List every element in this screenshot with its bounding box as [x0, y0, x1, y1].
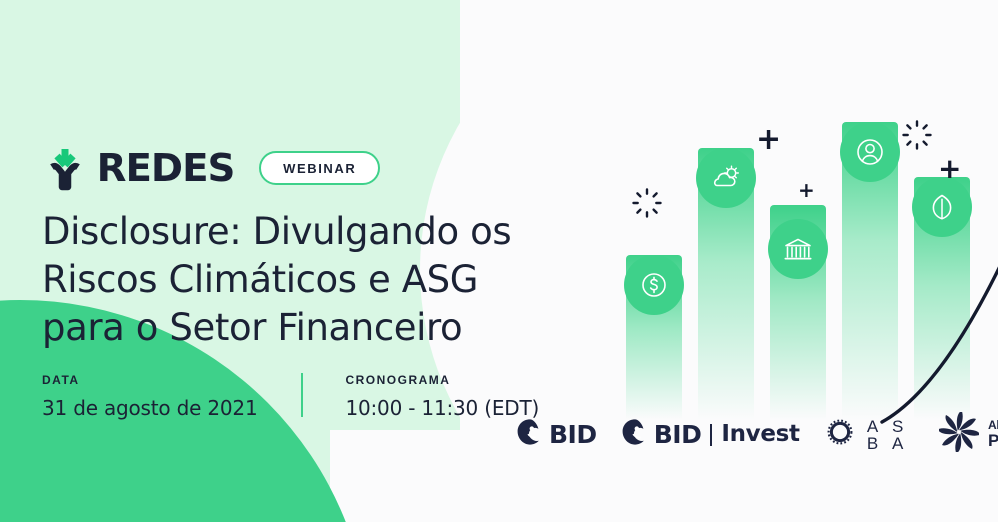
- plus-icon-right: +: [938, 155, 961, 183]
- date-value: 31 de agosto de 2021: [42, 396, 257, 420]
- cloud-sun-icon: [709, 161, 743, 195]
- partner-alianza-pacifico: Alianza del Pacífico: [939, 412, 998, 457]
- invest-label: Invest: [721, 423, 799, 446]
- bid-invest-label: BID: [654, 422, 702, 447]
- time-block: CRONOGRAMA 10:00 - 11:30 (EDT): [345, 373, 539, 420]
- sparkle-icon-right: [900, 118, 934, 157]
- chart-cap-environment: [912, 177, 972, 237]
- person-icon: [853, 135, 887, 169]
- bid-invest-divider: [710, 424, 712, 446]
- bid-globe-icon: [620, 417, 650, 452]
- bid-globe-icon: [515, 417, 545, 452]
- headline-line-3: para o Setor Financeiro: [42, 304, 542, 352]
- bar-chart-illustration: + + +: [598, 100, 998, 420]
- chart-cap-finance: [624, 255, 684, 315]
- content-column: REDES WEBINAR Disclosure: Divulgando os …: [42, 0, 562, 522]
- headline-line-2: Riscos Climáticos e ASG: [42, 256, 542, 304]
- partner-bid: BID: [515, 417, 597, 452]
- alianza-label-2: Pacífico: [988, 432, 998, 450]
- chart-cap-people: [840, 122, 900, 182]
- plus-icon-top: +: [756, 125, 781, 155]
- partner-bid-invest: BID Invest: [620, 417, 800, 452]
- date-block: DATA 31 de agosto de 2021: [42, 373, 257, 420]
- brand-row: REDES WEBINAR: [42, 145, 380, 191]
- meta-divider: [301, 373, 303, 417]
- webinar-banner: REDES WEBINAR Disclosure: Divulgando os …: [0, 0, 998, 522]
- headline-line-1: Disclosure: Divulgando os: [42, 208, 542, 256]
- partner-asba: A S B A: [823, 415, 916, 454]
- page-title: Disclosure: Divulgando os Riscos Climáti…: [42, 208, 542, 352]
- date-label: DATA: [42, 373, 257, 387]
- time-value: 10:00 - 11:30 (EDT): [345, 396, 539, 420]
- leaf-icon: [926, 191, 958, 223]
- dollar-icon: [638, 269, 670, 301]
- asba-ring-icon: [823, 415, 857, 454]
- alianza-text: Alianza del Pacífico: [988, 419, 998, 449]
- brand-name: REDES: [97, 149, 235, 187]
- chart-cap-institutions: [768, 219, 828, 279]
- event-meta: DATA 31 de agosto de 2021 CRONOGRAMA 10:…: [42, 373, 539, 420]
- bank-icon: [782, 233, 814, 265]
- redes-arrow-icon: [42, 145, 88, 191]
- chart-cap-climate: [696, 148, 756, 208]
- webinar-badge: WEBINAR: [259, 151, 380, 185]
- time-label: CRONOGRAMA: [345, 373, 539, 387]
- alianza-label-1: Alianza del: [988, 419, 998, 432]
- plus-icon-mid: +: [798, 180, 815, 200]
- alianza-pinwheel-icon: [939, 412, 979, 457]
- partner-logos: BID BID Invest: [515, 412, 998, 457]
- sparkle-icon-left: [630, 186, 664, 225]
- asba-label: A S B A: [867, 418, 916, 452]
- trendline-icon: [878, 260, 998, 430]
- bid-label: BID: [549, 422, 597, 447]
